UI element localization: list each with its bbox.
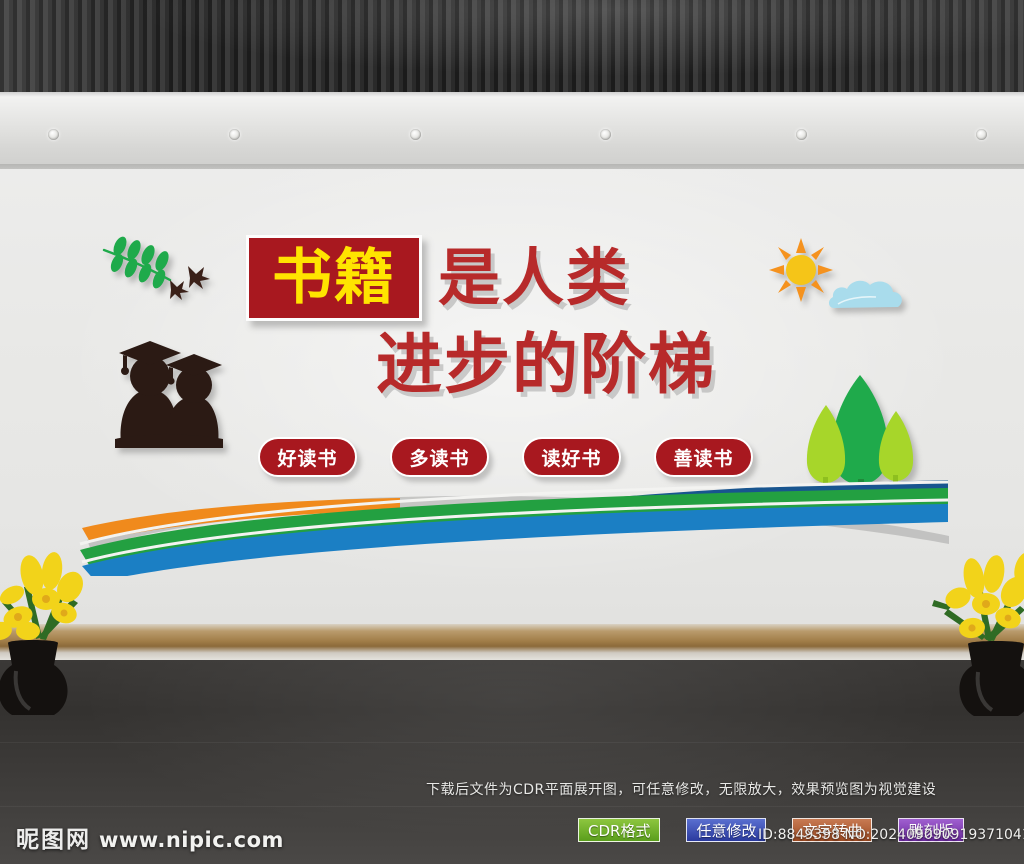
soffit-band (0, 97, 1024, 169)
downlight-icon (600, 129, 611, 140)
downlight-icon (796, 129, 807, 140)
badge-editable: 任意修改 (686, 818, 766, 842)
watermark: 昵图网 www.nipic.com (16, 820, 284, 854)
cloud-icon (826, 272, 906, 314)
swallow-birds-icon (164, 262, 212, 302)
headline-line-1: 书籍 是人类 (246, 232, 806, 324)
badge-cdr-format: CDR格式 (578, 818, 660, 842)
slogan-pill-4: 善读书 (654, 437, 753, 477)
headline-line-1-text: 是人类 (438, 247, 630, 309)
slogan-pill-2-label: 多读书 (409, 444, 469, 471)
headline-line-2-text: 进步的阶梯 (376, 332, 806, 398)
badge-editable-label: 任意修改 (696, 820, 756, 841)
watermark-url: www.nipic.com (99, 828, 284, 852)
ceiling-sheen (0, 0, 1024, 96)
wood-baseboard (0, 624, 1024, 660)
wall-mural-preview-scene: 书籍 是人类 进步的阶梯 好读书 多读书 读好书 善读书 (0, 0, 1024, 864)
downlight-icon (229, 129, 240, 140)
boxed-keyword-text: 书籍 (272, 248, 396, 308)
boxed-keyword: 书籍 (246, 235, 422, 321)
downlight-icon (48, 129, 59, 140)
flower-vase-icon (928, 548, 1024, 718)
headline-block: 书籍 是人类 进步的阶梯 (246, 232, 806, 398)
headline-line-2: 进步的阶梯 (376, 332, 806, 398)
slogan-pill-row: 好读书 多读书 读好书 善读书 (258, 437, 753, 477)
wave-ribbon-decoration (70, 466, 950, 576)
footer-caption: 下载后文件为CDR平面展开图，可任意修改，无限放大，效果预览图为视觉建设 (426, 779, 936, 799)
floor-tile-seam (0, 742, 1024, 743)
slatted-ceiling (0, 0, 1024, 96)
slogan-pill-1-label: 好读书 (277, 444, 337, 471)
flower-vase-icon (0, 543, 114, 718)
watermark-brand-cn: 昵图网 (16, 820, 91, 854)
slogan-pill-4-label: 善读书 (673, 444, 733, 471)
downlight-icon (976, 129, 987, 140)
downlight-icon (410, 129, 421, 140)
slogan-pill-3-label: 读好书 (541, 444, 601, 471)
slogan-pill-1: 好读书 (258, 437, 357, 477)
slogan-pill-2: 多读书 (390, 437, 489, 477)
graduate-children-silhouette-icon (101, 313, 227, 448)
badge-cdr-format-label: CDR格式 (588, 820, 650, 841)
floor-tile-seam (0, 806, 1024, 807)
slogan-pill-3: 读好书 (522, 437, 621, 477)
asset-id-text: ID:8849398 NO:20240909091937104101 (758, 827, 1024, 843)
